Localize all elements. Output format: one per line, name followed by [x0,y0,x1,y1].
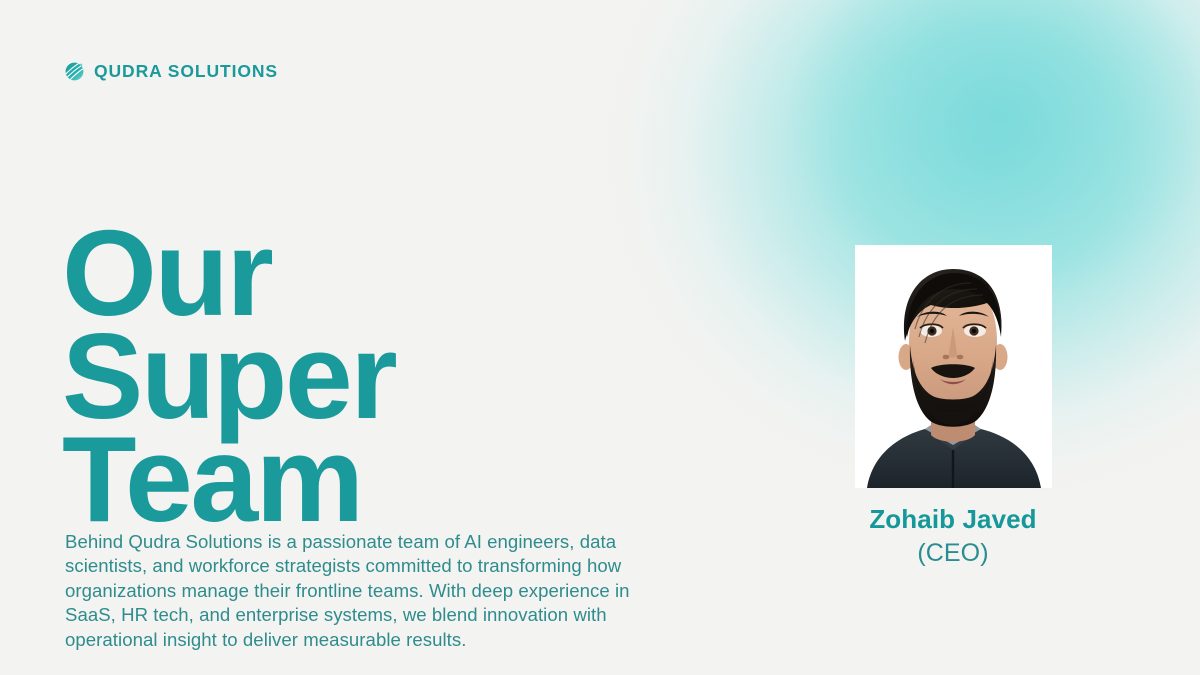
member-role: (CEO) [833,539,1073,568]
headline-line-3: Team [62,428,622,531]
swirl-circle-icon [64,61,85,82]
brand-logo[interactable]: QUDRA SOLUTIONS [64,61,278,82]
member-name: Zohaib Javed [833,505,1073,535]
team-member-card: Zohaib Javed (CEO) [833,245,1073,568]
slide-canvas: QUDRA SOLUTIONS Our Super Team Behind Qu… [0,0,1200,675]
avatar [855,245,1052,488]
page-title: Our Super Team [62,222,622,531]
brand-name: QUDRA SOLUTIONS [94,63,278,81]
body-paragraph: Behind Qudra Solutions is a passionate t… [65,530,660,653]
